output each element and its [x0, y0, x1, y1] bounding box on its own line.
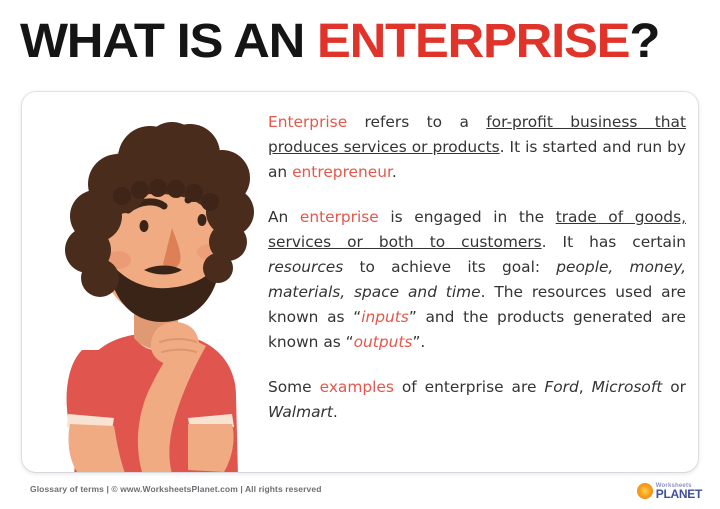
page-title-suffix: ?: [629, 15, 659, 68]
text-run: An: [268, 208, 300, 226]
text-run: . It has certain: [542, 233, 686, 251]
page-title-bar: WHAT IS AN ENTERPRISE?: [0, 0, 720, 86]
text-run: resources: [268, 258, 343, 276]
text-run: ,: [579, 378, 592, 396]
page-title: WHAT IS AN ENTERPRISE?: [20, 12, 659, 72]
definition-paragraph: An enterprise is engaged in the trade of…: [268, 205, 686, 355]
text-run: to achieve its goal:: [343, 258, 556, 276]
text-run: entrepreneur: [292, 163, 392, 181]
text-run: enterprise: [300, 208, 379, 226]
text-run: refers to a: [347, 113, 486, 131]
text-run: Microsoft: [592, 378, 663, 396]
page-title-highlight: ENTERPRISE: [317, 15, 629, 68]
text-run: or: [662, 378, 686, 396]
page-title-plain: WHAT IS AN: [20, 15, 317, 68]
text-run: examples: [320, 378, 394, 396]
text-run: .: [333, 403, 338, 421]
thinking-man-illustration: [22, 92, 272, 472]
footer: Glossary of terms | © www.WorksheetsPlan…: [0, 478, 720, 509]
logo-wordmark: Worksheets PLANET: [656, 483, 702, 500]
logo-bottom-word: PLANET: [656, 488, 702, 500]
text-run: is engaged in the: [379, 208, 556, 226]
sun-globe-icon: [637, 483, 653, 499]
text-run: Ford: [544, 378, 578, 396]
text-run: Some: [268, 378, 320, 396]
definition-paragraph: Enterprise refers to a for-profit busine…: [268, 110, 686, 185]
text-run: Walmart: [268, 403, 333, 421]
definition-text: Enterprise refers to a for-profit busine…: [268, 110, 686, 425]
text-run: inputs: [361, 308, 409, 326]
definition-paragraph: Some examples of enterprise are Ford, Mi…: [268, 375, 686, 425]
text-run: ”.: [412, 333, 425, 351]
text-run: .: [392, 163, 397, 181]
content-card: Enterprise refers to a for-profit busine…: [22, 92, 698, 472]
worksheets-planet-logo[interactable]: Worksheets PLANET: [637, 481, 702, 501]
text-run: of enterprise are: [394, 378, 545, 396]
text-run: outputs: [354, 333, 413, 351]
footer-credit: Glossary of terms | © www.WorksheetsPlan…: [30, 484, 322, 494]
text-run: Enterprise: [268, 113, 347, 131]
